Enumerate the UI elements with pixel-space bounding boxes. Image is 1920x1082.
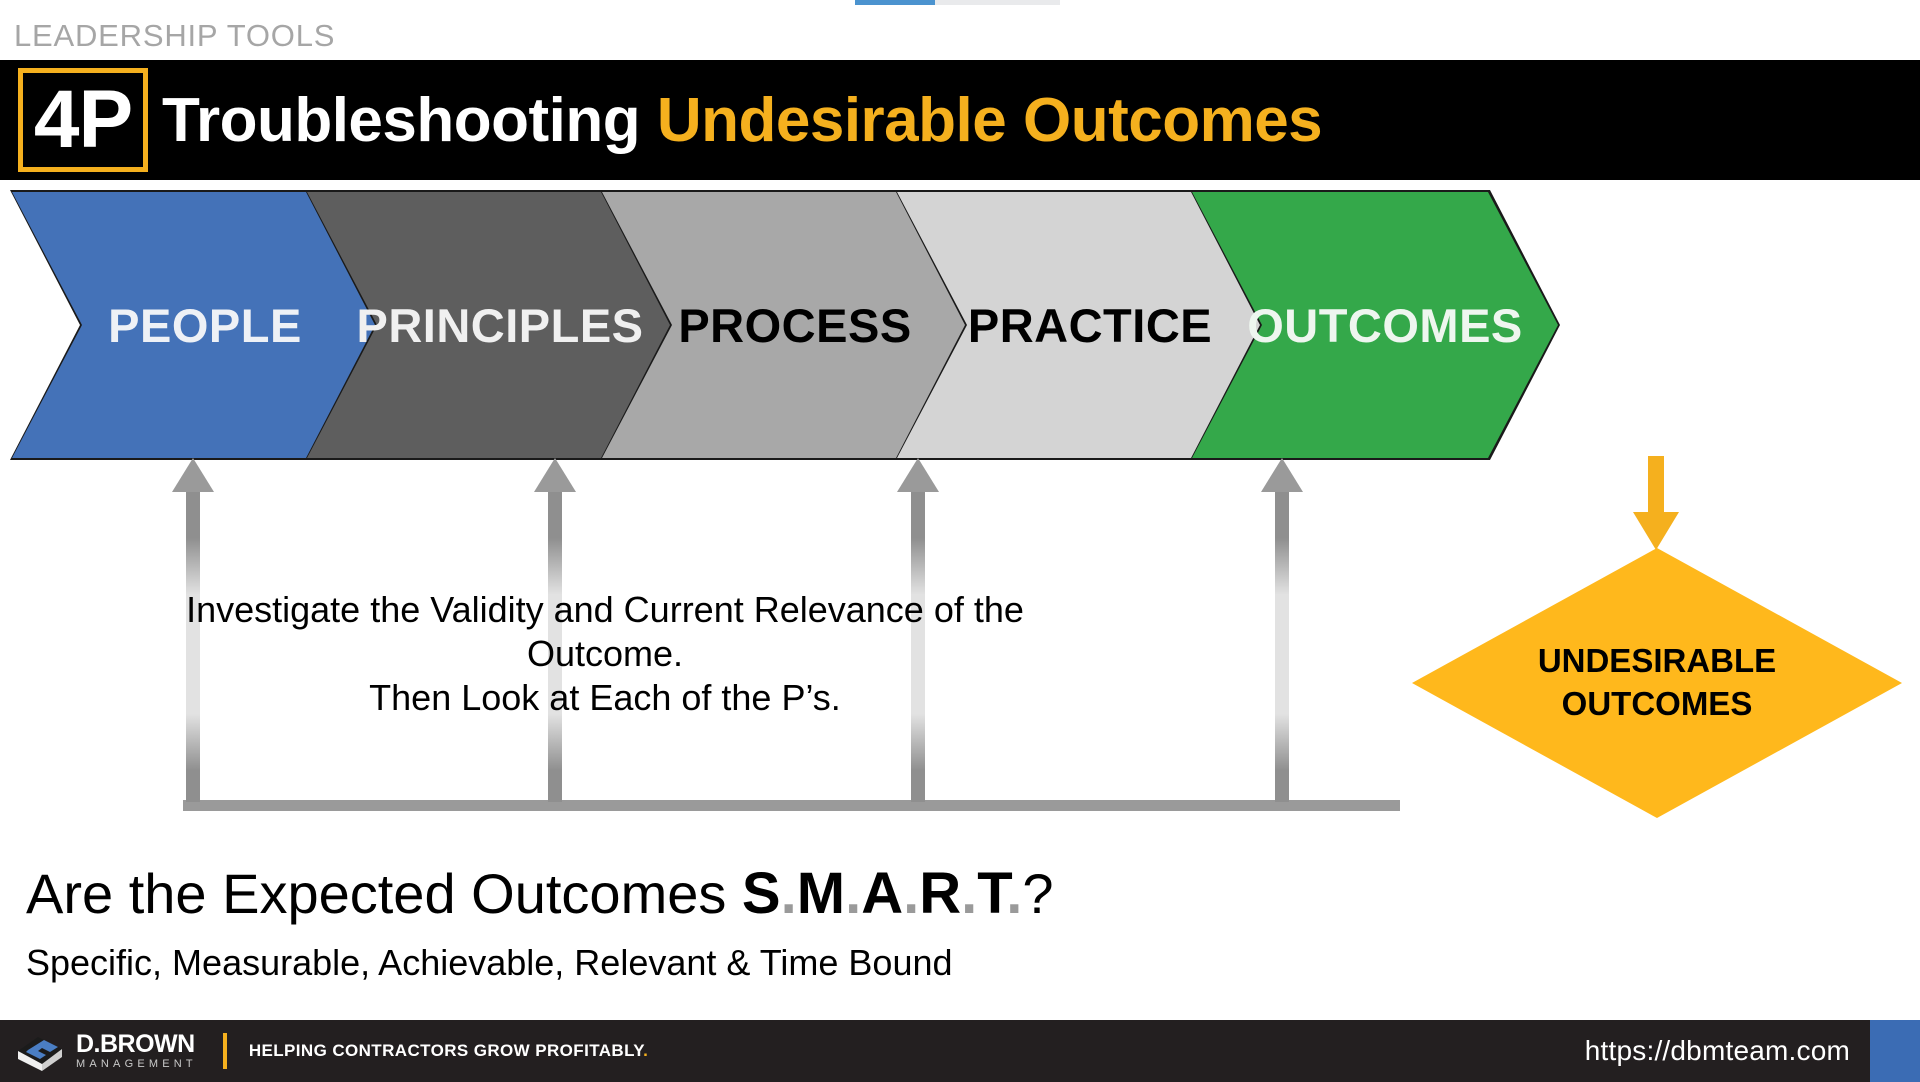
title-accent: Undesirable Outcomes xyxy=(657,86,1322,155)
cube-logo-icon xyxy=(14,1031,66,1071)
footer-tagline: HELPING CONTRACTORS GROW PROFITABLY. xyxy=(249,1041,648,1061)
chevron-label: OUTCOMES xyxy=(1190,298,1560,353)
footer-tagline-dot: . xyxy=(643,1041,648,1060)
chevron-outcomes[interactable]: OUTCOMES xyxy=(1190,190,1560,460)
footer-accent-block xyxy=(1870,1020,1920,1082)
slide-canvas: LEADERSHIP TOOLS 4P Troubleshooting Unde… xyxy=(0,0,1920,1082)
top-ui-sliver-accent xyxy=(855,0,935,5)
footer-bar: D.BROWN MANAGEMENT HELPING CONTRACTORS G… xyxy=(0,1020,1920,1082)
badge-4p: 4P xyxy=(18,68,148,172)
footer-url[interactable]: https://dbmteam.com xyxy=(1585,1035,1850,1067)
instruction-text: Investigate the Validity and Current Rel… xyxy=(110,588,1100,720)
smart-letter-r: R xyxy=(919,861,961,926)
eyebrow-label: LEADERSHIP TOOLS xyxy=(14,18,335,54)
diamond-label: UNDESIRABLE OUTCOMES xyxy=(1412,640,1902,726)
feeder-arrow-head xyxy=(172,458,214,492)
badge-4p-text: 4P xyxy=(34,79,132,161)
diamond-line-1: UNDESIRABLE xyxy=(1412,640,1902,683)
instruction-line-2: Then Look at Each of the P’s. xyxy=(110,676,1100,720)
smart-letter-m: M xyxy=(797,861,845,926)
outcome-arrow-stem xyxy=(1648,456,1664,514)
instruction-line-1: Investigate the Validity and Current Rel… xyxy=(110,588,1100,676)
smart-letter-a: A xyxy=(861,861,903,926)
smart-suffix: ? xyxy=(1022,862,1053,925)
smart-separator: . xyxy=(1006,861,1022,926)
brand-name-block: D.BROWN MANAGEMENT xyxy=(76,1032,197,1070)
brand-logo[interactable]: D.BROWN MANAGEMENT xyxy=(14,1031,197,1071)
footer-tagline-text: HELPING CONTRACTORS GROW PROFITABLY xyxy=(249,1041,643,1060)
page-title: Troubleshooting Undesirable Outcomes xyxy=(162,85,1322,156)
title-plain: Troubleshooting xyxy=(162,86,657,155)
smart-separator: . xyxy=(961,861,977,926)
brand-name: D.BROWN xyxy=(76,1032,197,1057)
footer-divider xyxy=(223,1033,227,1069)
smart-acronym: S.M.A.R.T.? xyxy=(742,862,1054,925)
feeder-arrow-stem xyxy=(1275,488,1289,802)
undesirable-outcomes-diamond: UNDESIRABLE OUTCOMES xyxy=(1412,548,1902,818)
smart-prefix: Are the Expected Outcomes xyxy=(26,862,742,925)
title-bar: 4P Troubleshooting Undesirable Outcomes xyxy=(0,60,1920,180)
feeder-arrow-head xyxy=(534,458,576,492)
smart-separator: . xyxy=(781,861,797,926)
diamond-line-2: OUTCOMES xyxy=(1412,683,1902,726)
feeder-arrow-4 xyxy=(1272,458,1292,800)
smart-separator: . xyxy=(903,861,919,926)
feeder-arrow-head xyxy=(897,458,939,492)
process-chevron-row: PEOPLEPRINCIPLESPROCESSPRACTICEOUTCOMES xyxy=(0,190,1920,460)
smart-separator: . xyxy=(845,861,861,926)
outcome-arrow-head xyxy=(1633,512,1679,550)
connector-bus-line xyxy=(183,800,1400,811)
smart-letter-s: S xyxy=(742,861,781,926)
smart-question: Are the Expected Outcomes S.M.A.R.T.? xyxy=(26,860,1054,927)
brand-sub: MANAGEMENT xyxy=(76,1059,197,1070)
feeder-arrow-head xyxy=(1261,458,1303,492)
smart-letter-t: T xyxy=(977,861,1006,926)
smart-subtitle: Specific, Measurable, Achievable, Releva… xyxy=(26,942,953,984)
